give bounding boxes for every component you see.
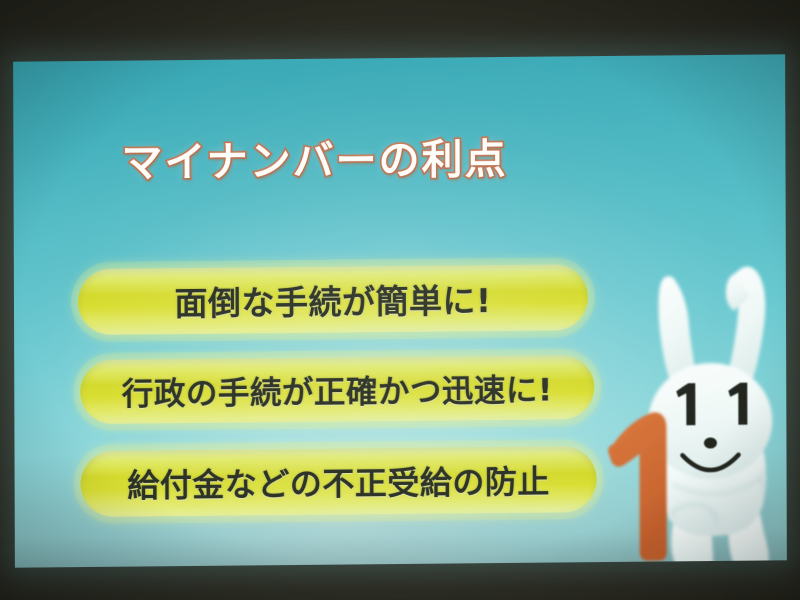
slide-title: マイナンバーの利点 (121, 125, 507, 189)
numeral-one-graphic (600, 407, 691, 563)
benefit-pill-3: 給付金などの不正受給の防止 (80, 446, 596, 517)
projector-photo: マイナンバーの利点 面倒な手続が簡単に! 行政の手続が正確かつ迅速に! 給付金な… (0, 0, 800, 600)
benefit-pill-3-label: 給付金などの不正受給の防止 (127, 457, 550, 507)
benefit-pill-2-label: 行政の手続が正確かつ迅速に! (122, 365, 553, 415)
benefit-pill-1-label: 面倒な手続が簡単に! (174, 274, 491, 325)
benefit-pill-2: 行政の手続が正確かつ迅速に! (80, 355, 594, 424)
benefit-pill-1: 面倒な手続が簡単に! (78, 264, 588, 335)
slide-canvas: マイナンバーの利点 面倒な手続が簡単に! 行政の手続が正確かつ迅速に! 給付金な… (13, 54, 787, 567)
projected-slide-surface: マイナンバーの利点 面倒な手続が簡単に! 行政の手続が正確かつ迅速に! 給付金な… (13, 54, 787, 567)
